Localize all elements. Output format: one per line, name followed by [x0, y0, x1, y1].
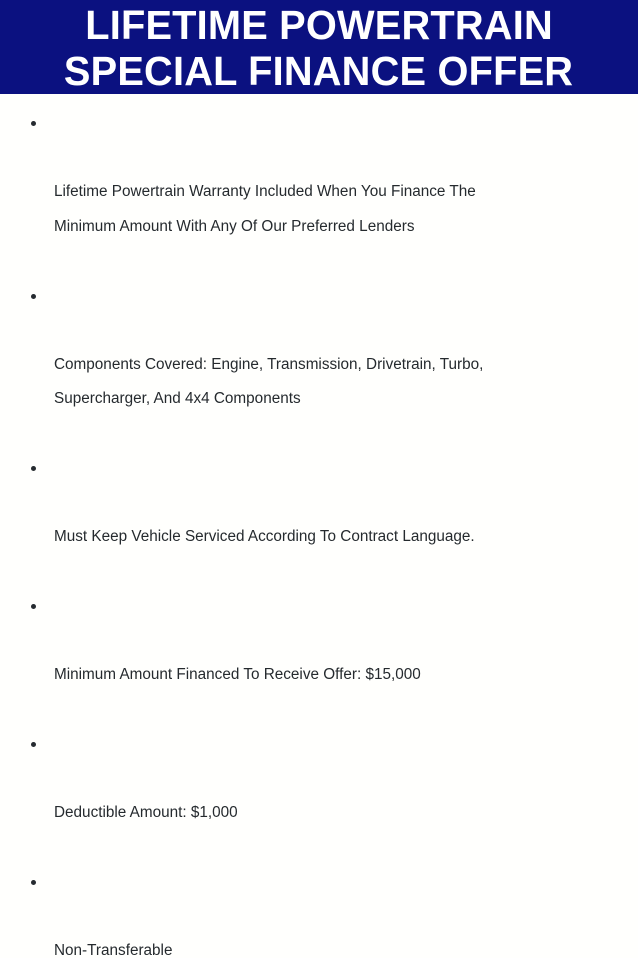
- bullet-text: Minimum Amount Financed To Receive Offer…: [54, 658, 620, 693]
- list-item: Must Keep Vehicle Serviced According To …: [18, 451, 620, 589]
- bullet-dot-icon: [31, 604, 36, 609]
- bullet-dot-icon: [31, 466, 36, 471]
- bullet-dot-icon: [31, 294, 36, 299]
- bullet-text: Must Keep Vehicle Serviced According To …: [54, 520, 620, 555]
- header-banner: LIFETIME POWERTRAIN SPECIAL FINANCE OFFE…: [0, 0, 638, 94]
- bullet-dot-icon: [31, 121, 36, 126]
- header-title-line-1: LIFETIME POWERTRAIN: [85, 2, 553, 48]
- offer-details-body: Lifetime Powertrain Warranty Included Wh…: [0, 94, 638, 958]
- list-item: Non-Transferable: [18, 865, 620, 958]
- bullet-text: Deductible Amount: $1,000: [54, 796, 620, 831]
- bullet-dot-icon: [31, 742, 36, 747]
- bullet-text: Lifetime Powertrain Warranty Included Wh…: [54, 175, 620, 244]
- bullet-dot-icon: [31, 880, 36, 885]
- list-item: Components Covered: Engine, Transmission…: [18, 279, 620, 452]
- list-item: Minimum Amount Financed To Receive Offer…: [18, 589, 620, 727]
- offer-bullet-list: Lifetime Powertrain Warranty Included Wh…: [18, 106, 620, 958]
- promo-slide: LIFETIME POWERTRAIN SPECIAL FINANCE OFFE…: [0, 0, 638, 479]
- bullet-text: Non-Transferable: [54, 934, 620, 958]
- list-item: Deductible Amount: $1,000: [18, 727, 620, 865]
- list-item: Lifetime Powertrain Warranty Included Wh…: [18, 106, 620, 279]
- bullet-text: Components Covered: Engine, Transmission…: [54, 348, 620, 417]
- header-title-line-2: SPECIAL FINANCE OFFER: [64, 48, 573, 94]
